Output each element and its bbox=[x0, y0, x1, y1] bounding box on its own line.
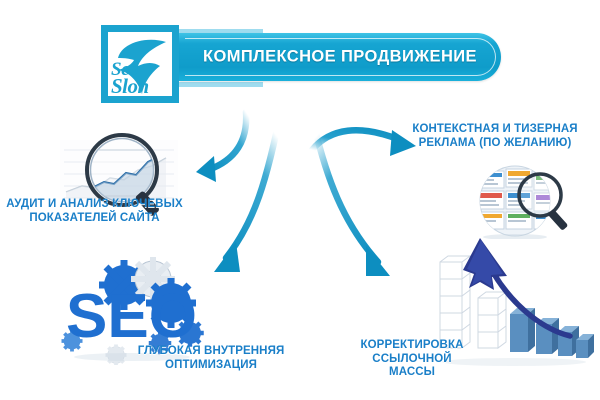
arrow-to-optimization bbox=[214, 112, 281, 272]
solid-bars bbox=[510, 308, 594, 358]
title-banner: КОМПЛЕКСНОЕ ПРОДВИЖЕНИЕ bbox=[179, 33, 501, 81]
logo-inner: Seo Slon bbox=[108, 32, 172, 96]
banner-tail-bottom bbox=[179, 82, 263, 87]
logo-line-slon: Slon bbox=[111, 78, 149, 95]
logo[interactable]: Seo Slon bbox=[101, 25, 179, 103]
caption-audit: АУДИТ И АНАЛИЗ КЛЮЧЕВЫХ ПОКАЗАТЕЛЕЙ САЙТ… bbox=[2, 198, 187, 225]
caption-context-ads: КОНТЕКСТНАЯ И ТИЗЕРНАЯ РЕКЛАМА (ПО ЖЕЛАН… bbox=[395, 123, 595, 150]
infographic-canvas: SEO bbox=[0, 0, 600, 400]
header: КОМПЛЕКСНОЕ ПРОДВИЖЕНИЕ Seo Slon bbox=[101, 25, 501, 105]
seo-word: SEO bbox=[66, 282, 197, 351]
page-title: КОМПЛЕКСНОЕ ПРОДВИЖЕНИЕ bbox=[179, 48, 501, 67]
caption-optimization: ГЛУБОКАЯ ВНУТРЕННЯЯ ОПТИМИЗАЦИЯ bbox=[116, 345, 306, 372]
arrow-to-audit bbox=[196, 112, 246, 182]
caption-link-mass: КОРРЕКТИРОВКА ССЫЛОЧНОЙ МАССЫ bbox=[352, 339, 472, 380]
webpage-globe-with-magnifier-illustration bbox=[470, 163, 586, 239]
logo-wordmark: Seo Slon bbox=[111, 62, 149, 95]
